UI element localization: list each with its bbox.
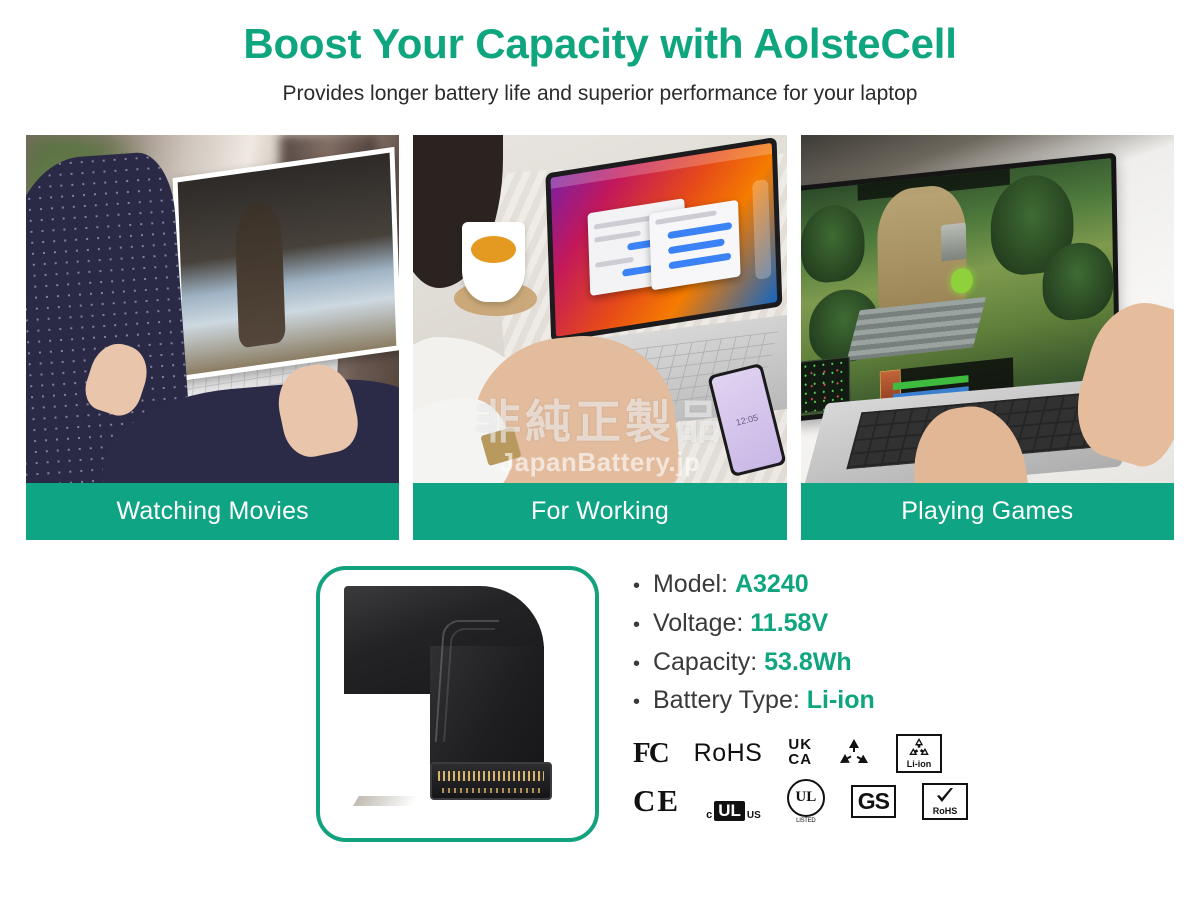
- spec-label-capacity: Capacity:: [653, 648, 757, 676]
- spec-item-model: • Model: A3240: [633, 570, 1174, 599]
- header: Boost Your Capacity with AolsteCell Prov…: [0, 0, 1200, 106]
- photo2-dock: [753, 179, 772, 280]
- gs-icon: GS: [851, 781, 896, 821]
- spec-value-model: A3240: [735, 570, 809, 598]
- photo1-laptop-screen: [173, 147, 399, 381]
- caption-playing-games: Playing Games: [801, 483, 1174, 540]
- bullet-icon: •: [633, 614, 640, 636]
- photo2-desktop-wallpaper: [551, 143, 777, 337]
- page-subtitle: Provides longer battery life and superio…: [0, 82, 1200, 106]
- recycle-icon: [838, 733, 870, 773]
- photo2-laptop-screen: [546, 137, 783, 343]
- ukca-icon-bottom: CA: [788, 753, 812, 768]
- culus-mark: UL: [714, 801, 745, 821]
- li-ion-label: Li-ion: [907, 759, 932, 769]
- photo2-tea-liquid: [471, 236, 517, 263]
- photo2-chat-window: [650, 199, 741, 289]
- caption-watching-movies: Watching Movies: [26, 483, 399, 540]
- specs-panel: • Model: A3240 • Voltage: 11.58V • Capac…: [633, 566, 1174, 846]
- panel-playing-games[interactable]: Playing Games: [801, 135, 1174, 540]
- spec-item-battery-type: • Battery Type: Li-ion: [633, 686, 1174, 715]
- connector-gold-pins-secondary: [442, 788, 540, 793]
- connector-fold-line-inner: [443, 628, 495, 742]
- photo2-tea-cup: [462, 222, 525, 302]
- ul-icon: UL LISTED: [787, 781, 825, 821]
- connector-gold-pins: [438, 771, 544, 781]
- spec-label-battery-type: Battery Type:: [653, 686, 800, 714]
- ul-circle: UL: [787, 779, 825, 817]
- certification-row-2: CE c UL US UL LISTED GS: [633, 777, 1174, 825]
- spec-list: • Model: A3240 • Voltage: 11.58V • Capac…: [633, 570, 1174, 715]
- spec-label-voltage: Voltage:: [653, 609, 743, 637]
- ce-icon: CE: [633, 781, 680, 821]
- product-image-frame[interactable]: [316, 566, 599, 842]
- page-title: Boost Your Capacity with AolsteCell: [0, 22, 1200, 66]
- gs-mark: GS: [851, 785, 896, 818]
- spec-item-voltage: • Voltage: 11.58V: [633, 609, 1174, 638]
- photo-watching-movies: [26, 135, 399, 483]
- connector-shadow: [353, 796, 419, 806]
- spec-item-capacity: • Capacity: 53.8Wh: [633, 648, 1174, 677]
- photo3-game-hero: [951, 267, 974, 294]
- fcc-icon: FC: [633, 733, 668, 773]
- ul-sublabel: LISTED: [796, 818, 815, 824]
- product-section: • Model: A3240 • Voltage: 11.58V • Capac…: [0, 566, 1200, 846]
- culus-prefix: c: [706, 809, 712, 821]
- photo1-movie-character: [234, 199, 286, 348]
- panel-watching-movies[interactable]: Watching Movies: [26, 135, 399, 540]
- rohs-check-icon: RoHS: [922, 781, 968, 821]
- photo3-game-scene: [801, 158, 1115, 416]
- photo-playing-games: [801, 135, 1174, 483]
- bullet-icon: •: [633, 575, 640, 597]
- bullet-icon: •: [633, 653, 640, 675]
- panel-for-working[interactable]: 12:05 非純正製品 JapanBattery.jp For Working: [413, 135, 786, 540]
- rohs-check-label: RoHS: [933, 806, 958, 816]
- use-case-panels: Watching Movies: [0, 135, 1200, 540]
- photo1-movie-content: [178, 153, 397, 376]
- spec-value-battery-type: Li-ion: [807, 686, 875, 714]
- caption-for-working: For Working: [413, 483, 786, 540]
- bullet-icon: •: [633, 691, 640, 713]
- spec-value-voltage: 11.58V: [750, 609, 828, 637]
- spec-label-model: Model:: [653, 570, 728, 598]
- li-ion-recycle-icon: Li-ion: [896, 733, 942, 773]
- battery-connector-image: [344, 586, 554, 814]
- connector-plug: [430, 762, 552, 800]
- ukca-icon: UK CA: [788, 733, 812, 773]
- certification-badges: FC RoHS UK CA: [633, 729, 1174, 825]
- culus-icon: c UL US: [706, 781, 761, 821]
- certification-row-1: FC RoHS UK CA: [633, 729, 1174, 777]
- rohs-icon: RoHS: [694, 733, 763, 773]
- culus-suffix: US: [747, 810, 761, 821]
- spec-value-capacity: 53.8Wh: [764, 648, 852, 676]
- photo3-game-tower: [941, 223, 967, 262]
- photo-for-working: 12:05 非純正製品 JapanBattery.jp: [413, 135, 786, 483]
